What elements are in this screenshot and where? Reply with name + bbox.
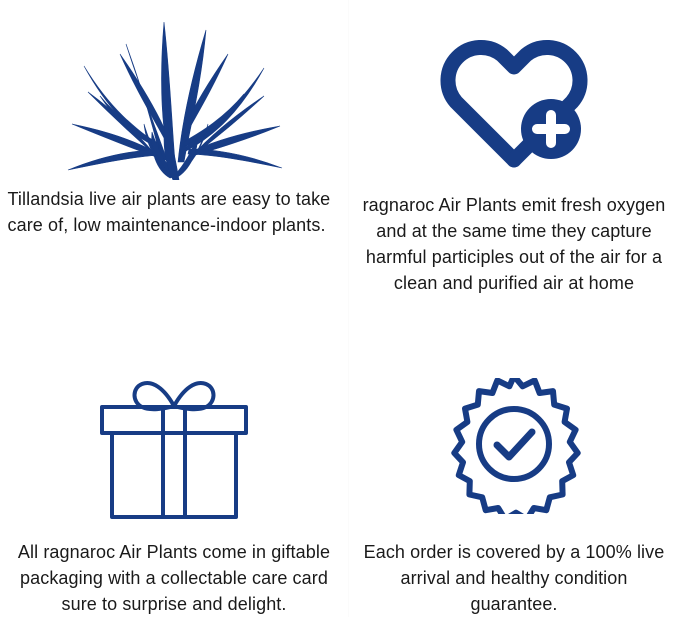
- verified-seal-icon: [446, 378, 582, 514]
- feature-cell-guarantee: Each order is covered by a 100% live arr…: [349, 308, 679, 617]
- feature-cell-air-quality: ragnaroc Air Plants emit fresh oxygen an…: [349, 0, 679, 308]
- feature-cell-care: Tillandsia live air plants are easy to t…: [0, 0, 349, 308]
- feature-caption-gifting: All ragnaroc Air Plants come in giftable…: [4, 539, 345, 617]
- gift-box-icon: [92, 368, 256, 520]
- feature-grid: Tillandsia live air plants are easy to t…: [0, 0, 679, 617]
- heart-plus-icon: [438, 36, 590, 168]
- air-plant-icon: [58, 10, 290, 180]
- icon-area-guarantee: [349, 308, 679, 539]
- icon-area-care: [0, 0, 348, 186]
- icon-area-gifting: [0, 308, 348, 539]
- feature-caption-air-quality: ragnaroc Air Plants emit fresh oxygen an…: [353, 192, 675, 296]
- feature-caption-care: Tillandsia live air plants are easy to t…: [4, 186, 345, 238]
- feature-caption-guarantee: Each order is covered by a 100% live arr…: [353, 539, 675, 617]
- feature-cell-gifting: All ragnaroc Air Plants come in giftable…: [0, 308, 349, 617]
- icon-area-air-quality: [349, 0, 679, 192]
